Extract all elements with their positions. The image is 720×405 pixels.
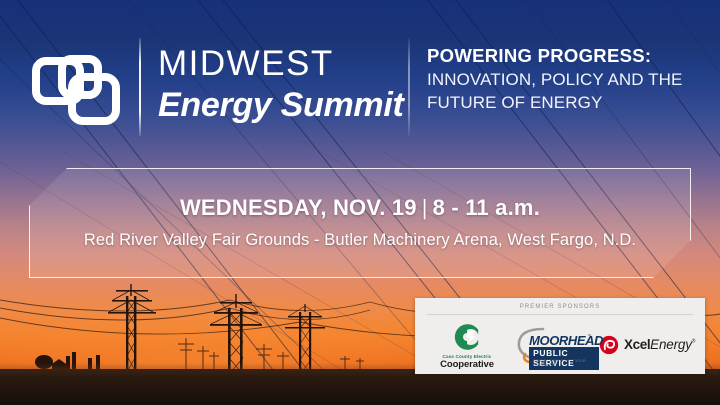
sponsors-divider [427,314,693,315]
tagline-divider [408,38,410,136]
brand-divider [139,38,141,136]
event-time: 8 - 11 a.m. [433,195,540,220]
xcel-energy-wordmark: XcelEnergy® [624,336,695,354]
tagline-headline: POWERING PROGRESS: [427,44,707,68]
moorhead-subtitle: CONNECTING YOU TO YOUR COMMUNITY [533,359,599,367]
moorhead-trademark: ™ [587,333,591,338]
premier-sponsors-box: PREMIER SPONSORS Cass County Electric Co… [415,298,705,374]
energy-word: Energy [650,337,692,352]
sponsor-moorhead-public-service[interactable]: MOORHEAD ™ PUBLIC SERVICE CONNECTING YOU… [509,324,599,366]
tagline-line-2: INNOVATION, POLICY AND THE [427,68,707,91]
xcel-registered-mark: ® [692,339,696,345]
xcel-word: Xcel [624,337,650,352]
interlocking-links-logo-icon [32,55,128,127]
event-banner: MIDWEST Energy Summit POWERING PROGRESS:… [0,0,720,405]
brand-name-energy-summit: Energy Summit [158,84,404,126]
moorhead-wordmark: MOORHEAD [529,333,603,348]
ground-field [0,369,720,405]
brand-header: MIDWEST Energy Summit POWERING PROGRESS:… [0,0,720,150]
cass-county-electric-c-mark-icon [451,321,483,353]
event-info-panel: WEDNESDAY, NOV. 19|8 - 11 a.m. Red River… [29,168,691,278]
brand-title-block: MIDWEST Energy Summit [158,44,404,126]
premier-sponsors-title: PREMIER SPONSORS [425,304,695,314]
tagline-block: POWERING PROGRESS: INNOVATION, POLICY AN… [427,44,707,114]
sponsor-cass-county-electric[interactable]: Cass County Electric Cooperative [425,321,509,370]
event-venue: Red River Valley Fair Grounds - Butler M… [84,228,636,252]
event-datetime: WEDNESDAY, NOV. 19|8 - 11 a.m. [180,194,540,222]
sponsor-xcel-energy[interactable]: XcelEnergy® [599,335,695,355]
sponsor-logo-row: Cass County Electric Cooperative MOORHEA… [425,318,695,372]
event-date: WEDNESDAY, NOV. 19 [180,195,417,220]
datetime-separator: | [417,195,433,220]
cass-county-line-2: Cooperative [440,359,494,370]
brand-name-midwest: MIDWEST [158,44,404,84]
tagline-line-3: FUTURE OF ENERGY [427,91,707,114]
